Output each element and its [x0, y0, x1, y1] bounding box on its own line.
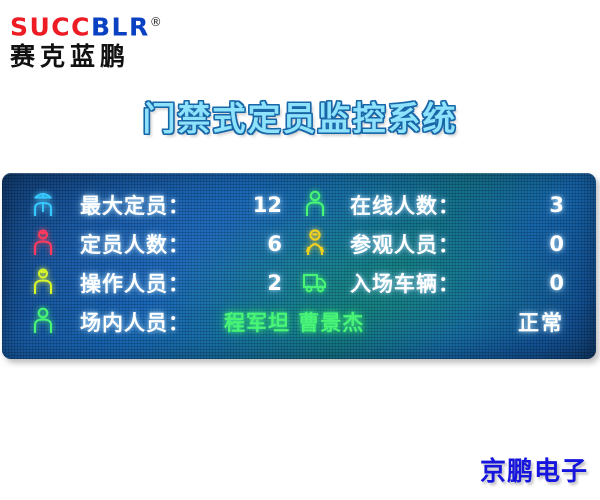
led-value-max-capacity: 12	[202, 193, 282, 217]
led-label-visitor-count: 参观人员：	[350, 229, 460, 259]
brand-wordmark-secondary: BLR	[91, 12, 150, 41]
person-onsite-icon	[30, 306, 56, 334]
led-row: 定员人数： 6 参观人员： 0	[2, 224, 596, 263]
led-label-onsite-personnel: 场内人员：	[80, 307, 190, 337]
led-value-vehicle-count: 0	[472, 271, 564, 295]
brand-wordmark: SUCCBLR®	[8, 8, 228, 41]
led-label-online-count: 在线人数：	[350, 190, 460, 220]
led-value-online-count: 3	[472, 193, 564, 217]
brand-wordmark-chinese: 赛克蓝鹏	[8, 42, 228, 72]
led-label-operator-count: 操作人员：	[80, 268, 190, 298]
led-display-panel: 最大定员： 12 在线人数： 3	[2, 173, 596, 359]
led-value-registered-count: 6	[202, 232, 282, 256]
footer-brand: 京鹏电子	[480, 451, 588, 488]
truck-icon	[302, 267, 328, 295]
led-label-registered-count: 定员人数：	[80, 229, 190, 259]
page-title: 门禁式定员监控系统	[0, 92, 600, 140]
led-label-max-capacity: 最大定员：	[80, 190, 190, 220]
led-display-grid: 最大定员： 12 在线人数： 3	[2, 173, 596, 359]
person-operator-icon	[30, 267, 56, 295]
brand-logo: SUCCBLR® 赛克蓝鹏	[8, 8, 228, 70]
led-row: 操作人员： 2 入场车辆： 0	[2, 263, 596, 302]
led-row-onsite: 场内人员： 程军坦 曹景杰 正常	[2, 302, 596, 341]
led-value-visitor-count: 0	[472, 232, 564, 256]
led-label-vehicle-count: 入场车辆：	[350, 268, 460, 298]
led-value-onsite-names: 程军坦 曹景杰	[224, 307, 364, 337]
person-visitor-icon	[302, 228, 328, 256]
registered-trademark-icon: ®	[150, 15, 162, 29]
led-row: 最大定员： 12 在线人数： 3	[2, 185, 596, 224]
led-value-operator-count: 2	[202, 271, 282, 295]
person-registered-icon	[30, 228, 56, 256]
brand-wordmark-primary: SUCC	[10, 12, 91, 41]
person-online-icon	[302, 189, 328, 217]
person-hardhat-icon	[30, 189, 56, 217]
status-badge: 正常	[478, 307, 564, 337]
